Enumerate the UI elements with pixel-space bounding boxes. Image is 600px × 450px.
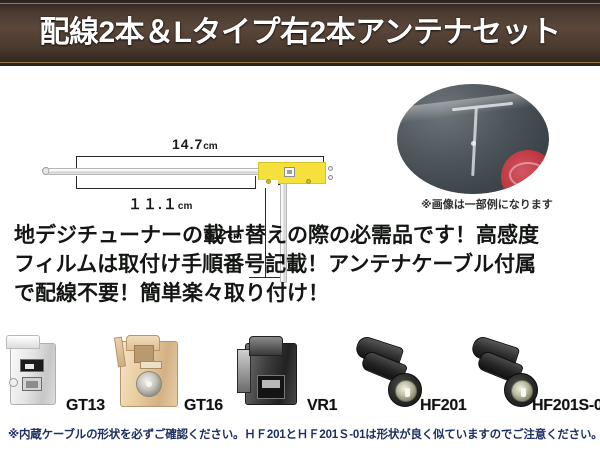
inspection-sticker xyxy=(501,150,549,194)
film-pad-dot-right-upper xyxy=(328,166,333,171)
film-pad-dot-bottom-right xyxy=(306,179,311,184)
dimension-unit-total-width: cm xyxy=(203,141,217,152)
hf201s01-center-pin xyxy=(521,388,526,397)
dimension-cap-left-inner xyxy=(76,176,77,189)
film-pad-dot-bottom-left xyxy=(266,179,271,184)
connector-label-hf201: HF201 xyxy=(420,397,467,415)
gt16-coax-ring xyxy=(136,371,162,397)
hf201-center-pin xyxy=(405,388,410,397)
connector-item-gt16: GT16 xyxy=(112,333,237,421)
connector-type-row: GT13 GT16 VR1 xyxy=(0,333,600,421)
connector-item-gt13: GT13 xyxy=(4,333,122,421)
dimension-label-inner-width: １１.１cm xyxy=(128,194,192,214)
vr1-top-clip xyxy=(249,336,283,356)
product-photo-panel: ※画像は一部例になります xyxy=(345,66,600,221)
product-description: 地デジチューナーの載せ替えの際の必需品です！高感度 フィルムは取付け手順番号記載… xyxy=(14,222,592,309)
windshield-photo xyxy=(397,84,549,194)
dimension-cap-right-inner xyxy=(255,176,256,189)
dimension-value-inner-width: １１.１ xyxy=(128,196,178,212)
film-pad-dot-right-lower xyxy=(328,175,333,180)
vr1-contact-face xyxy=(257,375,285,399)
dimension-cap-left-total xyxy=(76,156,77,168)
dimension-unit-inner-width: cm xyxy=(178,201,192,212)
product-banner: 配線2本＆Lタイプ右2本アンテナセット 14.7cm １１.１cm 8.2cm xyxy=(0,0,600,450)
page-title: 配線2本＆Lタイプ右2本アンテナセット xyxy=(0,0,600,66)
banner-header: 配線2本＆Lタイプ右2本アンテナセット xyxy=(0,0,600,66)
hf201s01-barrel-inner xyxy=(511,380,533,402)
gt13-housing xyxy=(10,343,56,405)
film-horizontal-arm xyxy=(48,168,263,175)
gt13-knob xyxy=(9,378,18,387)
gt13-port-lower xyxy=(22,377,42,391)
description-line-1: 地デジチューナーの載せ替えの際の必需品です！高感度 xyxy=(14,222,592,251)
gt13-top-clip xyxy=(6,335,40,349)
connector-label-hf201s01: HF201S-01 xyxy=(532,397,600,415)
connector-item-vr1: VR1 xyxy=(235,333,355,421)
dimension-label-total-width: 14.7cm xyxy=(172,136,218,152)
photo-caption: ※画像は一部例になります xyxy=(421,196,553,212)
gt16-pin-strip xyxy=(140,361,162,369)
dimension-value-total-width: 14.7 xyxy=(172,136,203,152)
film-pad-chip xyxy=(284,167,295,177)
gt13-port-upper xyxy=(20,359,44,372)
footer-note: ※内蔵ケーブルの形状を必ずご確認ください。ＨＦ201とＨＦ201Ｓ-01は形状が… xyxy=(8,426,600,442)
hf201-barrel-inner xyxy=(395,380,417,402)
dimension-line-inner-width xyxy=(76,188,256,189)
description-line-3: で配線不要！簡単楽々取り付け！ xyxy=(14,280,592,309)
connector-label-gt13: GT13 xyxy=(66,397,105,415)
connector-label-gt16: GT16 xyxy=(184,397,223,415)
hf201-barrel xyxy=(388,373,422,407)
description-line-2: フィルムは取付け手順番号記載！アンテナケーブル付属 xyxy=(14,251,592,280)
antenna-diagram: 14.7cm １１.１cm 8.2cm xyxy=(0,66,345,216)
connector-label-vr1: VR1 xyxy=(307,397,337,415)
connector-item-hf201: HF201 xyxy=(352,333,470,421)
connector-item-hf201s01: HF201S-01 xyxy=(468,333,598,421)
footer-note-bar: ※内蔵ケーブルの形状を必ずご確認ください。ＨＦ201とＨＦ201Ｓ-01は形状が… xyxy=(0,424,600,450)
dimension-line-total-width xyxy=(76,156,324,157)
